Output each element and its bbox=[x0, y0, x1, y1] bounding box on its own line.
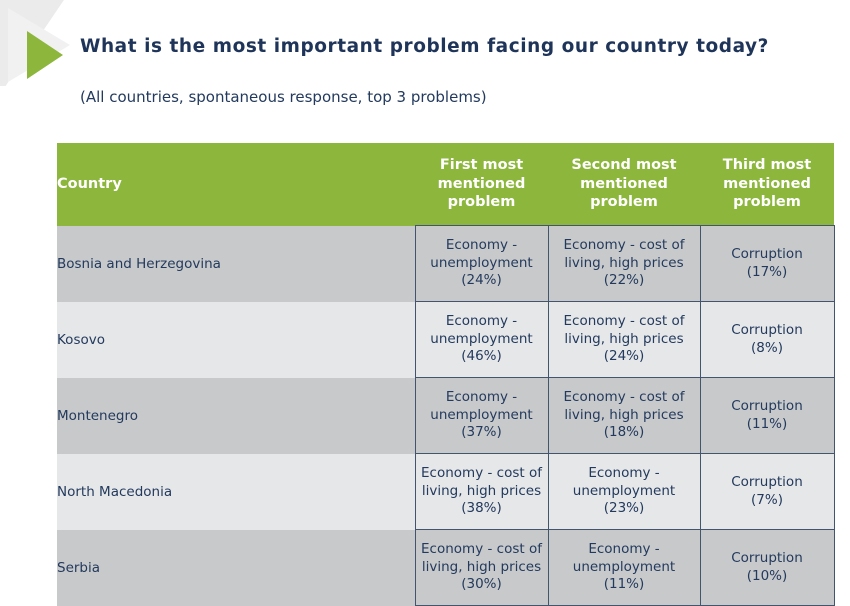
cell-first-problem: Economy - unemployment (46%) bbox=[415, 302, 548, 378]
cell-line: (46%) bbox=[416, 348, 548, 366]
cell-line: (24%) bbox=[416, 272, 548, 290]
table-header: Country First most mentioned problem Sec… bbox=[57, 143, 834, 226]
cell-line: Economy - bbox=[549, 465, 700, 483]
cell-third-problem: Corruption (8%) bbox=[700, 302, 834, 378]
cell-line: (11%) bbox=[701, 416, 834, 434]
column-header-second-problem: Second most mentioned problem bbox=[548, 143, 700, 226]
cell-line: Economy - bbox=[416, 313, 548, 331]
column-header-country: Country bbox=[57, 143, 415, 226]
cell-line: Economy - bbox=[416, 237, 548, 255]
cell-line: Corruption bbox=[701, 550, 834, 568]
column-header-country-line-1: Country bbox=[57, 176, 415, 192]
cell-line: (23%) bbox=[549, 500, 700, 518]
cell-line: living, high prices bbox=[549, 255, 700, 273]
cell-line: (30%) bbox=[416, 576, 548, 594]
cell-country: Montenegro bbox=[57, 378, 415, 454]
cell-line: (24%) bbox=[549, 348, 700, 366]
cell-line: living, high prices bbox=[416, 483, 548, 501]
table-header-row: Country First most mentioned problem Sec… bbox=[57, 143, 834, 226]
cell-second-problem: Economy - unemployment (11%) bbox=[548, 530, 700, 606]
cell-second-problem: Economy - cost of living, high prices (1… bbox=[548, 378, 700, 454]
cell-line: Corruption bbox=[701, 246, 834, 264]
cell-third-problem: Corruption (7%) bbox=[700, 454, 834, 530]
cell-first-problem: Economy - cost of living, high prices (3… bbox=[415, 530, 548, 606]
cell-line: unemployment bbox=[416, 407, 548, 425]
cell-second-problem: Economy - cost of living, high prices (2… bbox=[548, 302, 700, 378]
column-header-second-problem-line-3: problem bbox=[548, 193, 700, 212]
cell-country: North Macedonia bbox=[57, 454, 415, 530]
cell-second-problem: Economy - unemployment (23%) bbox=[548, 454, 700, 530]
column-header-second-problem-line-1: Second most bbox=[548, 156, 700, 175]
column-header-second-problem-line-2: mentioned bbox=[548, 175, 700, 194]
column-header-third-problem-line-2: mentioned bbox=[700, 175, 834, 194]
cell-line: living, high prices bbox=[549, 331, 700, 349]
cell-line: Economy - cost of bbox=[549, 237, 700, 255]
table-row: Serbia Economy - cost of living, high pr… bbox=[57, 530, 834, 606]
page-title: What is the most important problem facin… bbox=[80, 36, 769, 57]
cell-line: Economy - cost of bbox=[549, 389, 700, 407]
cell-third-problem: Corruption (17%) bbox=[700, 226, 834, 302]
cell-third-problem: Corruption (11%) bbox=[700, 378, 834, 454]
cell-line: (7%) bbox=[701, 492, 834, 510]
column-header-first-problem: First most mentioned problem bbox=[415, 143, 548, 226]
column-header-third-problem: Third most mentioned problem bbox=[700, 143, 834, 226]
cell-line: (38%) bbox=[416, 500, 548, 518]
table-row: North Macedonia Economy - cost of living… bbox=[57, 454, 834, 530]
title-block: What is the most important problem facin… bbox=[80, 36, 769, 57]
cell-line: (22%) bbox=[549, 272, 700, 290]
cell-third-problem: Corruption (10%) bbox=[700, 530, 834, 606]
cell-line: Corruption bbox=[701, 322, 834, 340]
cell-first-problem: Economy - unemployment (24%) bbox=[415, 226, 548, 302]
cell-line: unemployment bbox=[416, 331, 548, 349]
table-row: Montenegro Economy - unemployment (37%) … bbox=[57, 378, 834, 454]
cell-line: Economy - cost of bbox=[416, 541, 548, 559]
cell-line: Economy - bbox=[416, 389, 548, 407]
page-subtitle: (All countries, spontaneous response, to… bbox=[80, 88, 487, 106]
cell-line: (37%) bbox=[416, 424, 548, 442]
cell-line: (18%) bbox=[549, 424, 700, 442]
column-header-third-problem-line-1: Third most bbox=[700, 156, 834, 175]
cell-second-problem: Economy - cost of living, high prices (2… bbox=[548, 226, 700, 302]
cell-line: (10%) bbox=[701, 568, 834, 586]
cell-line: (8%) bbox=[701, 340, 834, 358]
column-header-first-problem-line-3: problem bbox=[415, 193, 548, 212]
cell-line: unemployment bbox=[549, 559, 700, 577]
column-header-first-problem-line-1: First most bbox=[415, 156, 548, 175]
cell-country: Kosovo bbox=[57, 302, 415, 378]
table-body: Bosnia and Herzegovina Economy - unemplo… bbox=[57, 226, 834, 606]
problems-table: Country First most mentioned problem Sec… bbox=[57, 143, 835, 606]
table-row: Kosovo Economy - unemployment (46%) Econ… bbox=[57, 302, 834, 378]
cell-first-problem: Economy - unemployment (37%) bbox=[415, 378, 548, 454]
cell-line: Corruption bbox=[701, 474, 834, 492]
cell-line: (11%) bbox=[549, 576, 700, 594]
column-header-third-problem-line-3: problem bbox=[700, 193, 834, 212]
table-row: Bosnia and Herzegovina Economy - unemplo… bbox=[57, 226, 834, 302]
cell-country: Serbia bbox=[57, 530, 415, 606]
cell-line: Economy - bbox=[549, 541, 700, 559]
cell-first-problem: Economy - cost of living, high prices (3… bbox=[415, 454, 548, 530]
cell-line: Economy - cost of bbox=[416, 465, 548, 483]
cell-line: living, high prices bbox=[416, 559, 548, 577]
cell-line: Corruption bbox=[701, 398, 834, 416]
cell-line: Economy - cost of bbox=[549, 313, 700, 331]
cell-line: unemployment bbox=[549, 483, 700, 501]
cell-line: unemployment bbox=[416, 255, 548, 273]
cell-country: Bosnia and Herzegovina bbox=[57, 226, 415, 302]
cell-line: (17%) bbox=[701, 264, 834, 282]
column-header-first-problem-line-2: mentioned bbox=[415, 175, 548, 194]
cell-line: living, high prices bbox=[549, 407, 700, 425]
